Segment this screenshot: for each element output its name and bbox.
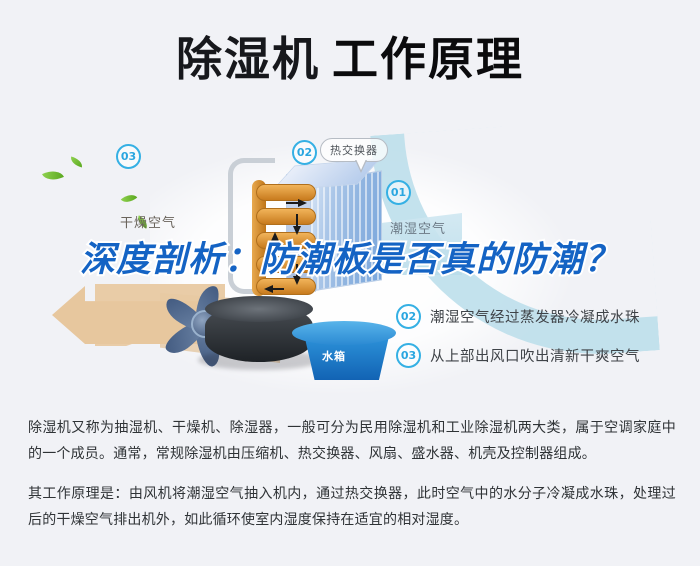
legend-badge-03: 03 bbox=[396, 343, 421, 368]
legend-item: 03 从上部出风口吹出清新干爽空气 bbox=[396, 343, 696, 368]
article-page: 除湿机工作原理 bbox=[0, 0, 700, 566]
label-dry-air: 干燥空气 bbox=[120, 212, 176, 231]
water-tank-label: 水箱 bbox=[322, 348, 346, 364]
page-title: 除湿机工作原理 bbox=[0, 28, 700, 90]
legend-text-02: 潮湿空气经过蒸发器冷凝成水珠 bbox=[430, 306, 640, 327]
overlay-headline-text: 深度剖析：防潮板是否真的防潮？ bbox=[80, 240, 620, 281]
leaf-icon bbox=[69, 157, 84, 168]
legend-text-03: 从上部出风口吹出清新干爽空气 bbox=[430, 345, 640, 366]
compressor-top bbox=[205, 296, 313, 322]
page-title-part-2: 工作原理 bbox=[332, 32, 524, 86]
article-paragraph-2: 其工作原理是：由风机将潮湿空气抽入机内，通过热交换器，此时空气中的水分子冷凝成水… bbox=[28, 481, 676, 533]
article-body: 除湿机又称为抽湿机、干燥机、除湿器，一般可分为民用除湿机和工业除湿机两大类，属于… bbox=[28, 415, 676, 547]
article-paragraph-1: 除湿机又称为抽湿机、干燥机、除湿器，一般可分为民用除湿机和工业除湿机两大类，属于… bbox=[28, 415, 676, 467]
legend-item: 02 潮湿空气经过蒸发器冷凝成水珠 bbox=[396, 304, 696, 329]
leaf-icon bbox=[121, 191, 138, 207]
legend-list: 02 潮湿空气经过蒸发器冷凝成水珠 03 从上部出风口吹出清新干爽空气 bbox=[396, 304, 696, 382]
leaf-icon bbox=[42, 166, 64, 184]
label-humid-air: 潮湿空气 bbox=[390, 218, 446, 237]
legend-badge-02: 02 bbox=[396, 304, 421, 329]
page-title-part-1: 除湿机 bbox=[176, 32, 320, 86]
water-tank-opening bbox=[292, 321, 396, 345]
badge-01-humid-air: 01 bbox=[386, 180, 411, 205]
callout-heat-exchanger: 热交换器 bbox=[320, 138, 388, 162]
badge-02-heat-exchanger: 02 bbox=[292, 140, 317, 165]
overlay-headline: 深度剖析：防潮板是否真的防潮？ bbox=[0, 240, 700, 281]
callout-pointer-icon bbox=[355, 160, 367, 173]
badge-03-dry-air: 03 bbox=[116, 144, 141, 169]
